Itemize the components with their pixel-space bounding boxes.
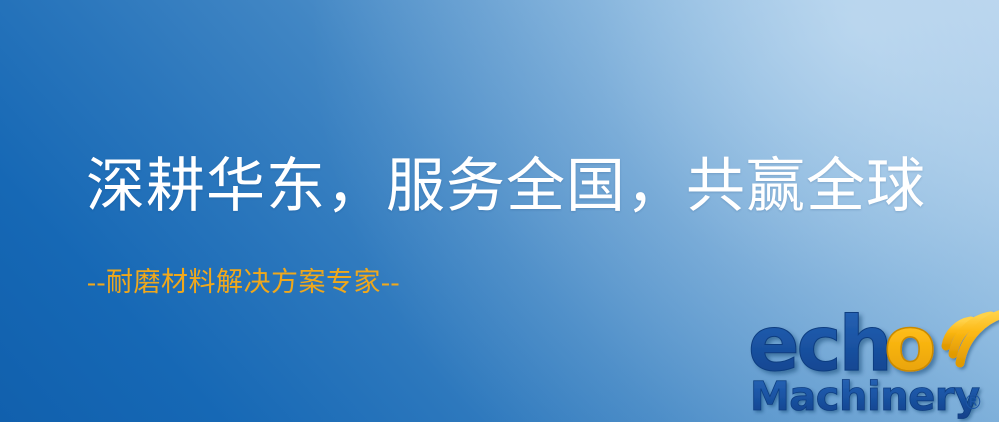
banner-subtitle: --耐磨材料解决方案专家-- xyxy=(87,264,400,300)
logo-registered-mark: ® xyxy=(963,390,983,414)
signal-waves-icon xyxy=(946,312,999,363)
promo-banner: 深耕华东，服务全国，共赢全球 --耐磨材料解决方案专家-- xyxy=(0,0,999,422)
logo-text-machinery: Machinery xyxy=(750,374,980,420)
echo-machinery-logo[interactable]: ech o Machinery ® xyxy=(748,296,999,422)
banner-headline: 深耕华东，服务全国，共赢全球 xyxy=(86,150,926,222)
